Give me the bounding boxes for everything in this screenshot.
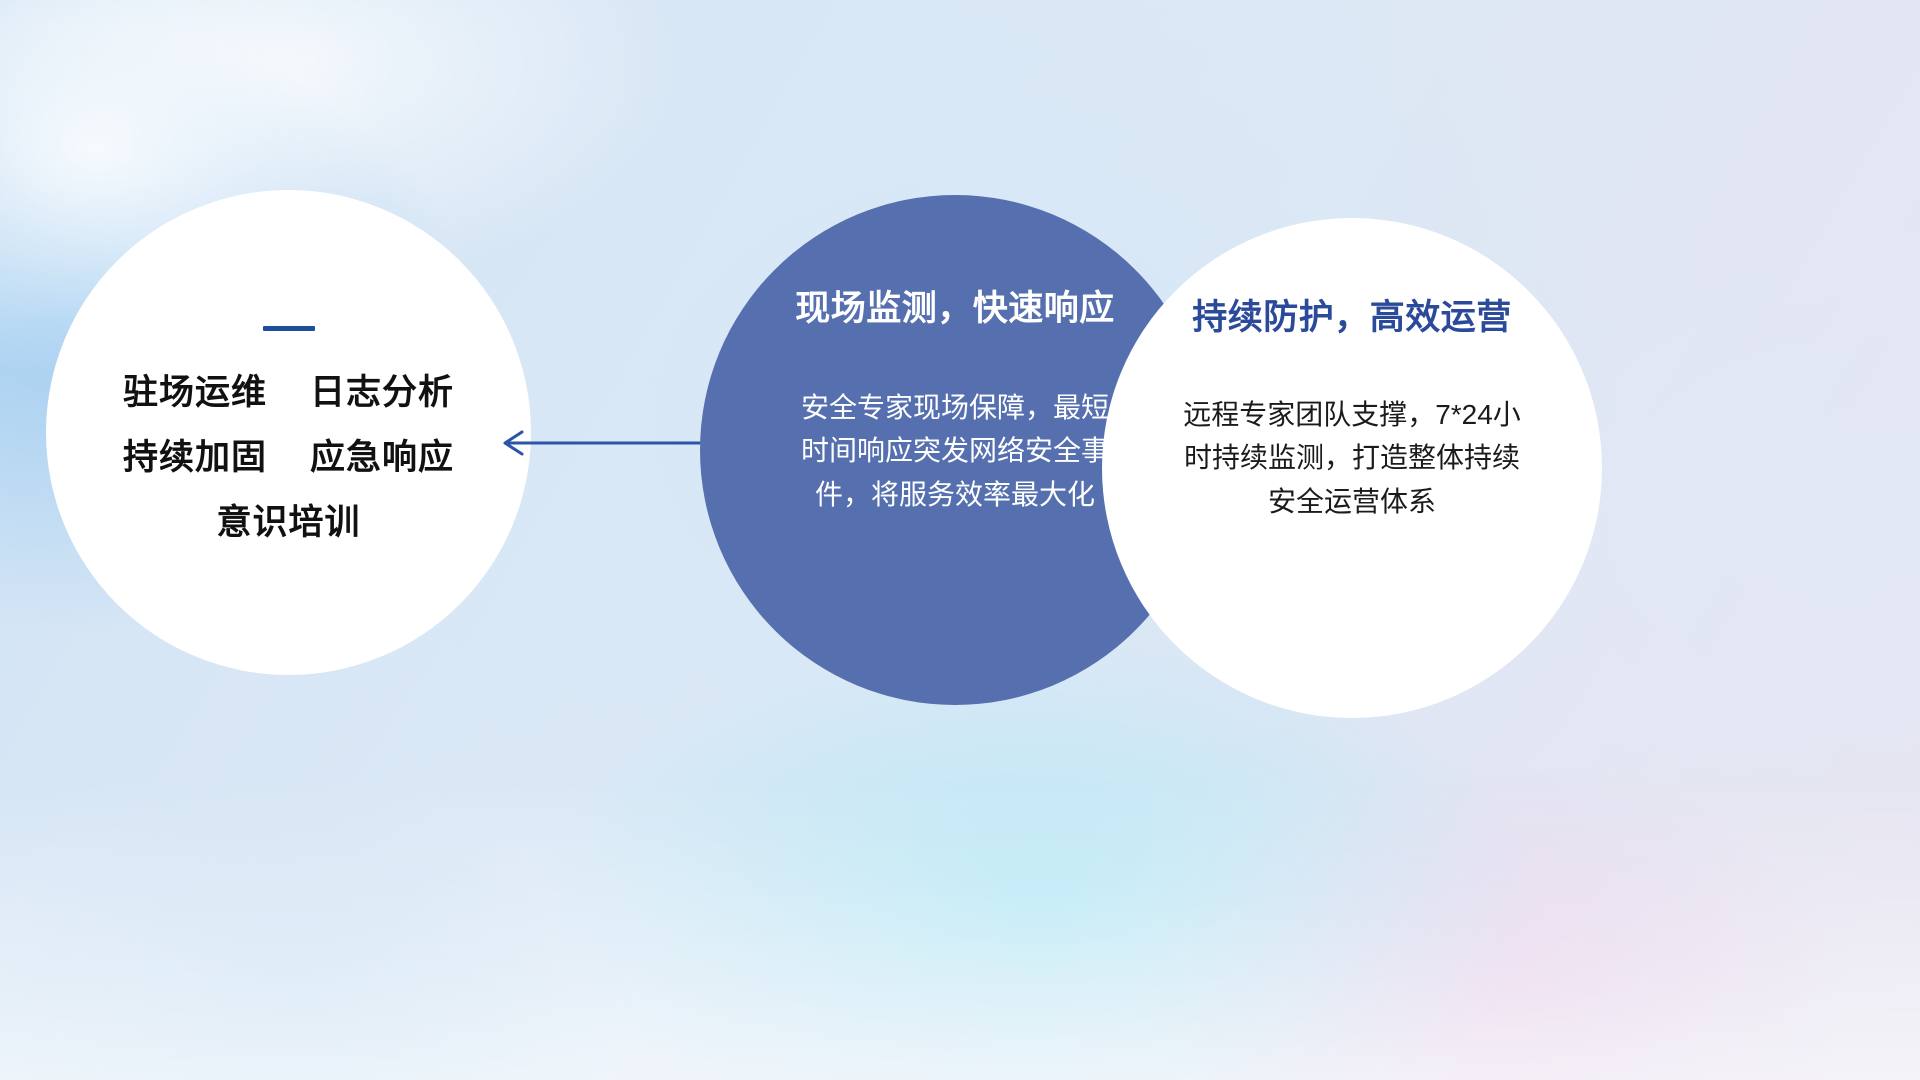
right-circle-title: 持续防护，高效运营 bbox=[1192, 300, 1512, 335]
slide-canvas: 驻场运维 日志分析 持续加固 应急响应 意识培训 现场监测，快速响应 安全专家现… bbox=[0, 0, 1920, 1080]
bottom-glow bbox=[0, 780, 1920, 1080]
center-circle-title: 现场监测，快速响应 bbox=[795, 291, 1115, 326]
left-arrow-icon bbox=[492, 425, 714, 461]
right-operations-circle[interactable]: 持续防护，高效运营 远程专家团队支撑，7*24小时持续监测，打造整体持续安全运营… bbox=[1102, 218, 1602, 718]
left-circle-line-2: 持续加固 应急响应 bbox=[123, 440, 454, 475]
center-circle-body: 安全专家现场保障，最短时间响应突发网络安全事件，将服务效率最大化 bbox=[795, 386, 1115, 516]
right-circle-body: 远程专家团队支撑，7*24小时持续监测，打造整体持续安全运营体系 bbox=[1172, 393, 1532, 523]
left-circle-line-1: 驻场运维 日志分析 bbox=[123, 375, 454, 410]
left-circle-line-3: 意识培训 bbox=[216, 505, 360, 540]
divider-dash-icon bbox=[263, 326, 315, 331]
left-capability-circle[interactable]: 驻场运维 日志分析 持续加固 应急响应 意识培训 bbox=[46, 190, 531, 675]
